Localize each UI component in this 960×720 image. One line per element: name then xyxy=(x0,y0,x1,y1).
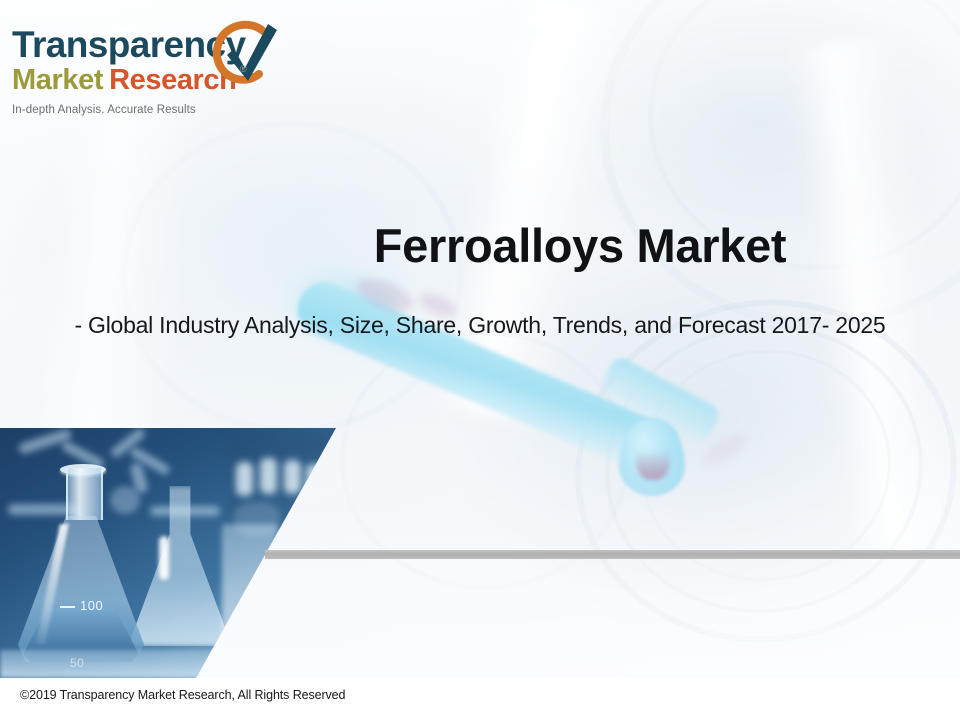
registered-trademark-icon: ® xyxy=(240,64,247,74)
vial xyxy=(260,458,277,494)
background-flask-highlight xyxy=(159,536,169,580)
flask-graduation-label: 100 xyxy=(80,598,103,613)
company-logo[interactable]: Transparency MarketResearch In-depth Ana… xyxy=(12,26,272,122)
flask-neck xyxy=(66,468,103,520)
logo-word-market: Market xyxy=(12,64,103,96)
footer-copyright: ©2019 Transparency Market Research, All … xyxy=(20,688,345,702)
vial xyxy=(284,460,301,494)
logo-tagline: In-depth Analysis. Accurate Results xyxy=(12,104,272,116)
page-subtitle: - Global Industry Analysis, Size, Share,… xyxy=(0,312,960,339)
page-title: Ferroalloys Market xyxy=(0,218,960,273)
presentation-slide: 100 50 25 Transparency MarketResearch In… xyxy=(0,0,960,720)
flask-graduation-100: 100 xyxy=(60,598,103,613)
vial xyxy=(236,462,253,496)
foreground-erlenmeyer-flask: 100 50 25 xyxy=(18,468,144,658)
tmr-checkmark-arc-icon xyxy=(208,18,280,90)
horizontal-divider xyxy=(265,550,960,559)
